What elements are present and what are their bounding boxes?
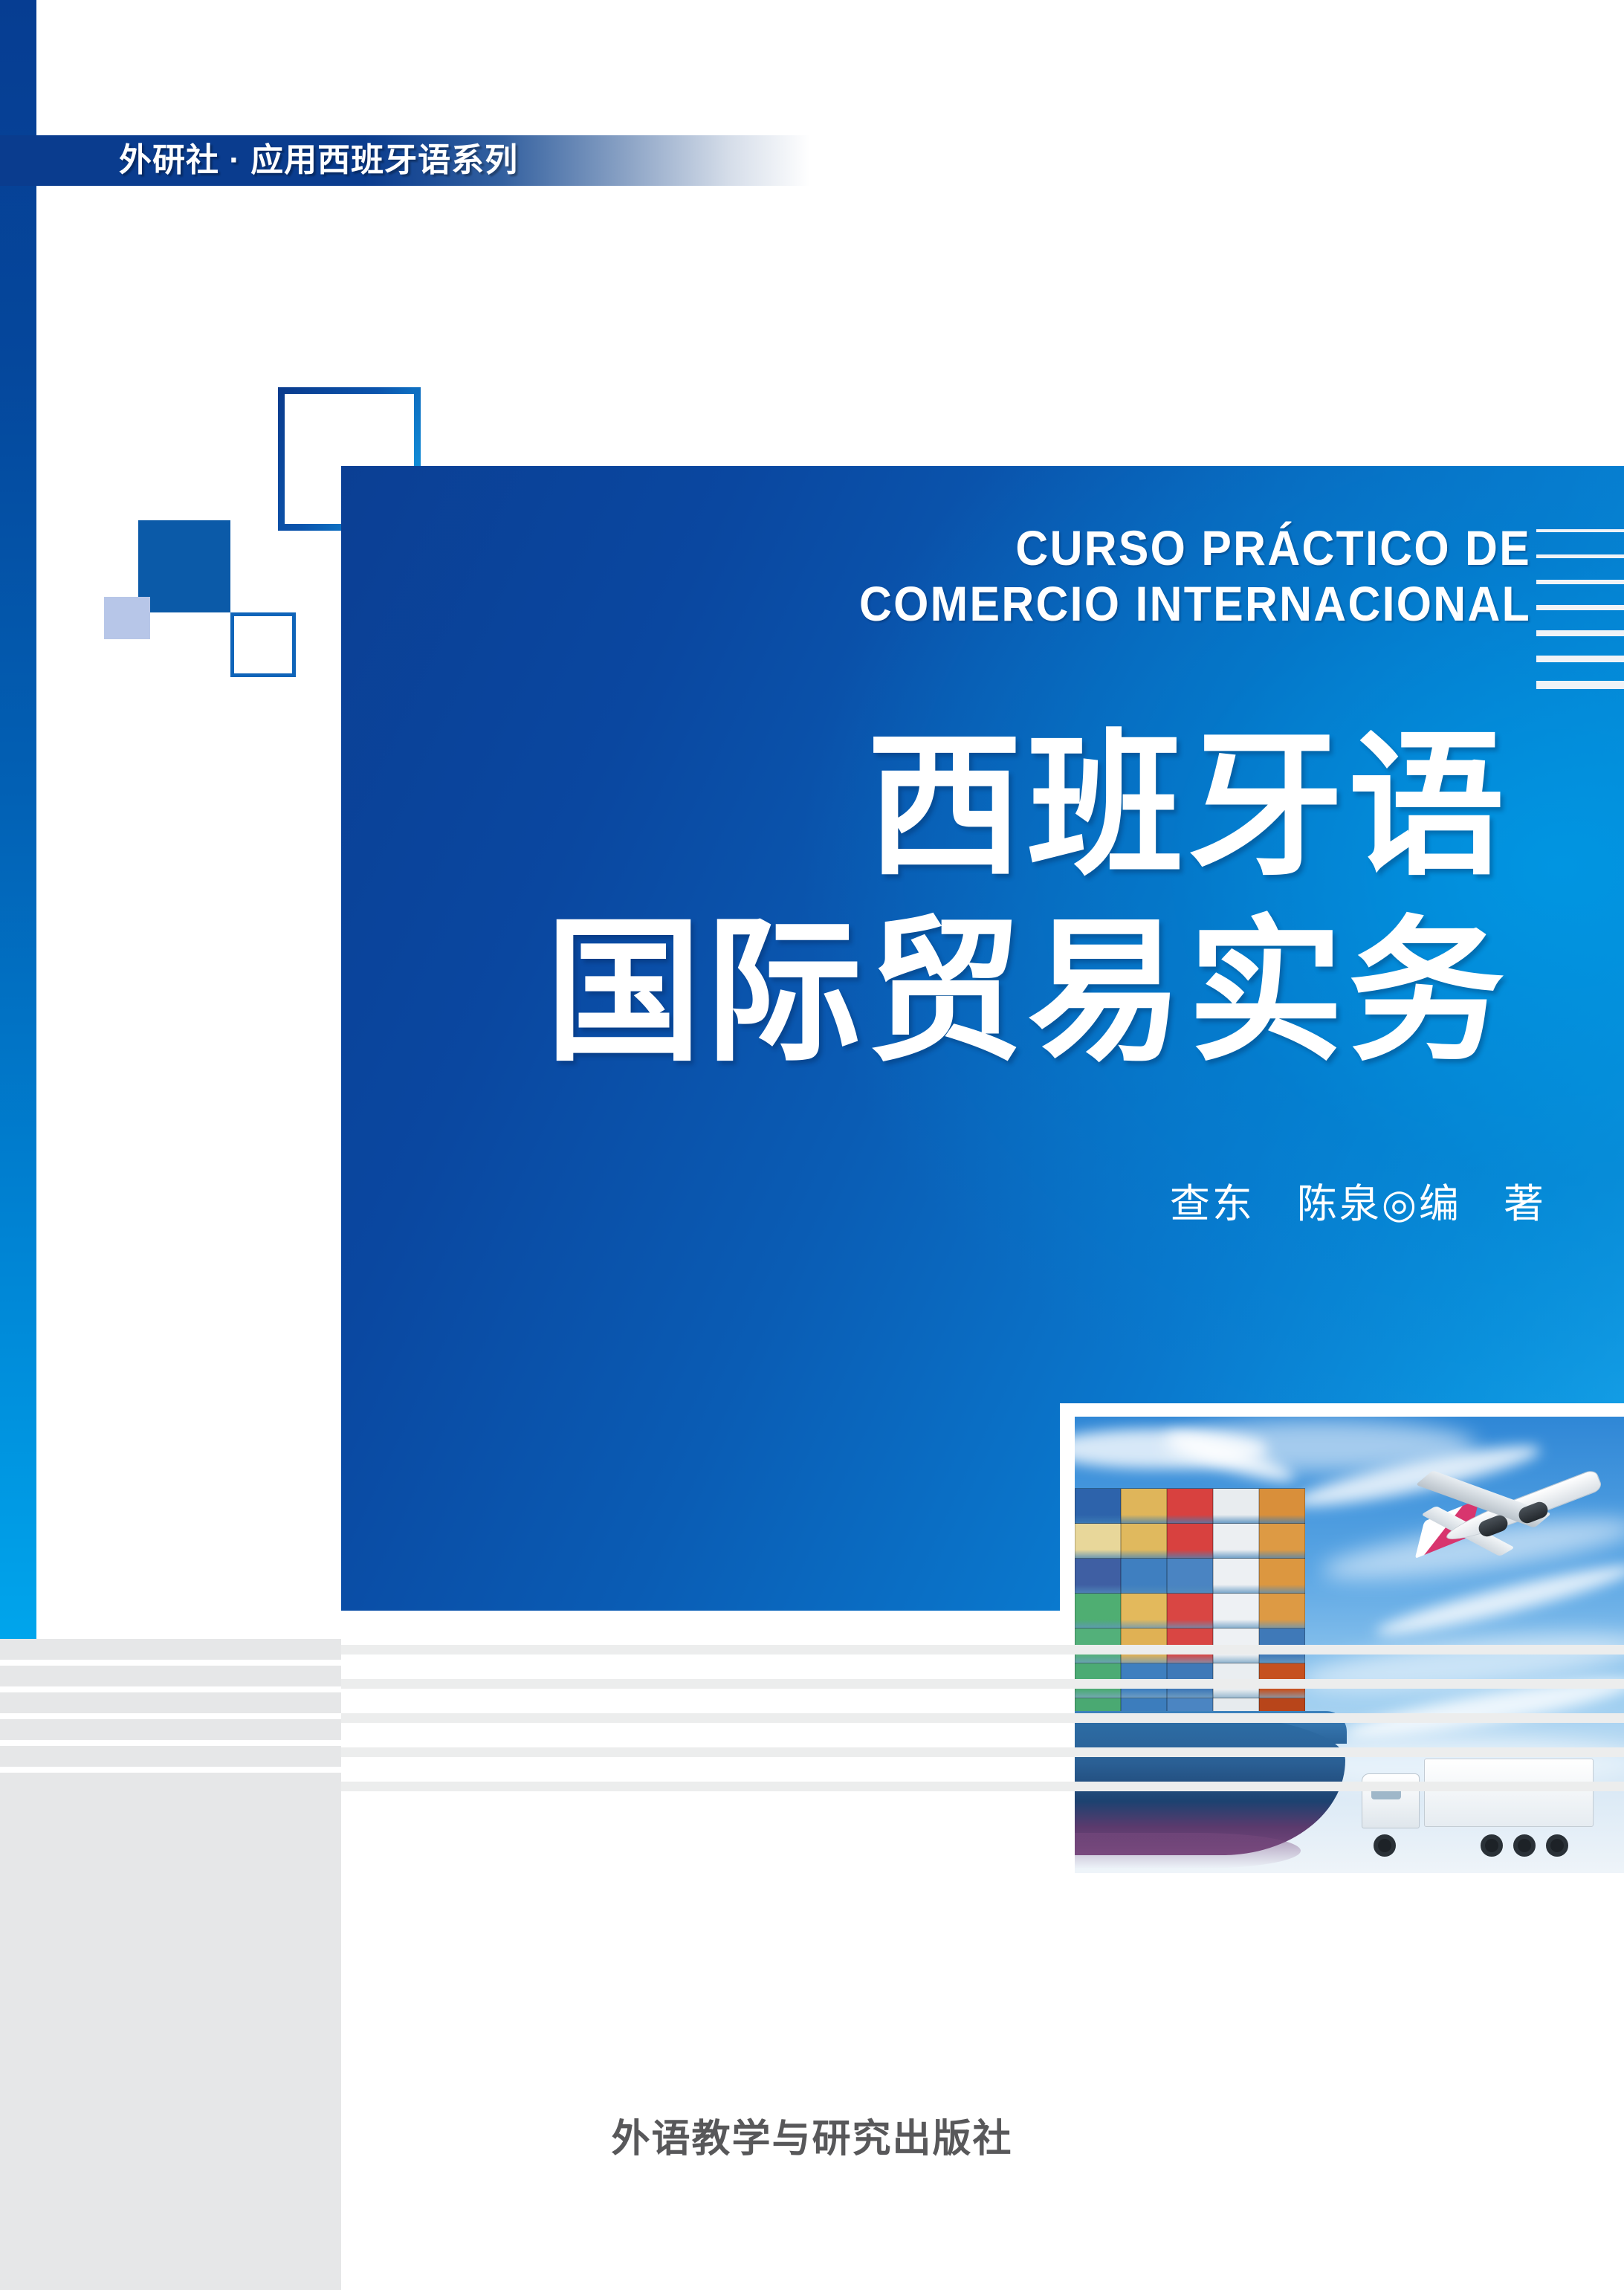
shipping-container (1213, 1488, 1259, 1527)
bottom-stripe-right-1 (341, 1645, 1624, 1655)
shipping-container (1259, 1523, 1305, 1562)
shipping-container (1213, 1558, 1259, 1597)
bottom-stripes-right (341, 1611, 1624, 1796)
decorative-rule-2 (1536, 554, 1624, 558)
bottom-stripe-left-5 (0, 1746, 341, 1767)
decorative-square-outline-small (230, 612, 296, 677)
decorative-rule-6 (1536, 656, 1624, 662)
shipping-container (1121, 1488, 1167, 1527)
shipping-container (1121, 1558, 1167, 1597)
shipping-container (1259, 1488, 1305, 1527)
decorative-square-solid-medium (138, 520, 230, 612)
bottom-stripe-right-5 (341, 1782, 1624, 1791)
bottom-stripe-left-1 (0, 1639, 341, 1660)
shipping-container (1167, 1488, 1213, 1527)
bottom-stripes-left (0, 1639, 341, 1773)
decorative-rule-7 (1536, 681, 1624, 689)
decorative-rule-4 (1536, 605, 1624, 610)
airplane (1398, 1449, 1606, 1576)
bottom-gray-block (0, 1773, 341, 2290)
bottom-stripe-right-4 (341, 1747, 1624, 1757)
truck-wheel-mid (1481, 1834, 1503, 1857)
decorative-rule-5 (1536, 630, 1624, 636)
decorative-rule-3 (1536, 580, 1624, 584)
shipping-container (1075, 1488, 1121, 1527)
truck-wheel-rear-2 (1546, 1834, 1568, 1857)
decorative-square-pale (104, 597, 150, 639)
shipping-container (1075, 1558, 1121, 1597)
shipping-container (1167, 1558, 1213, 1597)
shipping-container (1259, 1558, 1305, 1597)
bottom-stripe-left-3 (0, 1692, 341, 1713)
decorative-rule-lines (1536, 529, 1624, 700)
left-gradient-spine (0, 0, 36, 1639)
chinese-title-line-2: 国际贸易实务 (386, 899, 1509, 1085)
decorative-rule-1 (1536, 529, 1624, 532)
spanish-title-line-2: COMERCIO INTERNACIONAL (505, 576, 1531, 632)
shipping-container (1167, 1523, 1213, 1562)
bottom-stripe-left-2 (0, 1666, 341, 1686)
chinese-title: 西班牙语 国际贸易实务 (386, 714, 1509, 1085)
series-banner-label: 外研社 · 应用西班牙语系列 (119, 138, 518, 183)
spanish-title: CURSO PRÁCTICO DE COMERCIO INTERNACIONAL (505, 520, 1531, 632)
shipping-container (1075, 1523, 1121, 1562)
publisher-name: 外语教学与研究出版社 (0, 2107, 1624, 2163)
truck-wheel-rear-1 (1513, 1834, 1536, 1857)
shipping-container (1121, 1523, 1167, 1562)
book-cover: 外研社 · 应用西班牙语系列 CURSO PRÁCTICO DE COMERCI… (0, 0, 1624, 2290)
truck-wheel-front (1374, 1834, 1396, 1857)
author-credit: 查东 陈泉◎编 著 (743, 1171, 1546, 1229)
bottom-stripe-right-3 (341, 1713, 1624, 1723)
bottom-stripe-left-4 (0, 1719, 341, 1740)
ship-reflection (1075, 1833, 1301, 1869)
spanish-title-line-1: CURSO PRÁCTICO DE (505, 520, 1531, 576)
bottom-stripe-right-2 (341, 1679, 1624, 1689)
chinese-title-line-1: 西班牙语 (386, 714, 1509, 899)
shipping-container (1213, 1523, 1259, 1562)
